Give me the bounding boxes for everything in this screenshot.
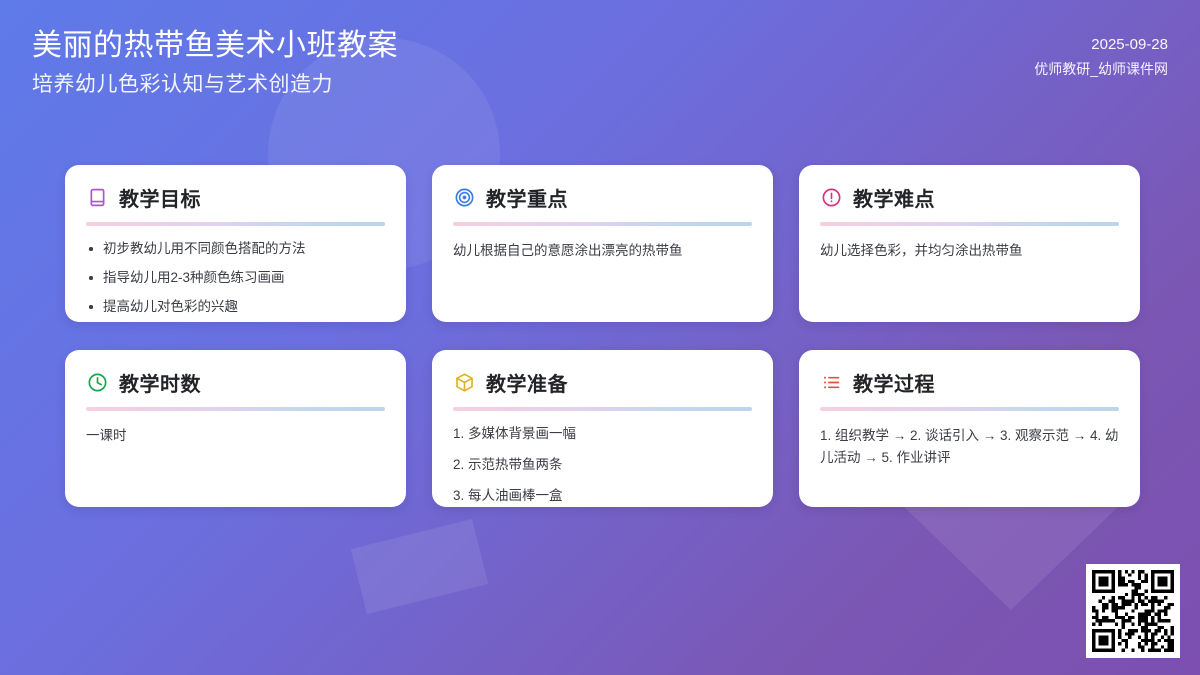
target-icon [453,186,475,208]
slide-canvas: 美丽的热带鱼美术小班教案 培养幼儿色彩认知与艺术创造力 2025-09-28 优… [0,0,1200,675]
list-item: 提高幼儿对色彩的兴趣 [86,298,385,316]
qr-code[interactable] [1086,564,1180,658]
card-divider [86,222,385,226]
card-text: 幼儿选择色彩，并均匀涂出热带鱼 [820,240,1119,262]
card-header: 教学难点 [820,182,1119,212]
list-item: 示范热带鱼两条 [453,456,752,474]
card-title: 教学难点 [853,183,935,212]
decorative-rectangle [351,519,488,614]
card-teaching-difficulties[interactable]: 教学难点幼儿选择色彩，并均匀涂出热带鱼 [799,165,1140,322]
card-title: 教学目标 [119,183,201,212]
card-body: 幼儿根据自己的意愿涂出漂亮的热带鱼 [453,240,752,308]
card-divider [820,222,1119,226]
numbered-list: 多媒体背景画一幅示范热带鱼两条每人油画棒一盒 [453,425,752,506]
card-teaching-objectives[interactable]: 教学目标初步教幼儿用不同颜色搭配的方法指导幼儿用2-3种颜色练习画画提高幼儿对色… [65,165,406,322]
card-body: 1. 组织教学 → 2. 谈话引入 → 3. 观察示范 → 4. 幼儿活动 → … [820,425,1119,493]
card-divider [86,407,385,411]
qr-code-image [1092,570,1174,652]
header-title-group: 美丽的热带鱼美术小班教案 培养幼儿色彩认知与艺术创造力 [32,26,398,99]
card-title: 教学过程 [853,368,935,397]
card-teaching-key-points[interactable]: 教学重点幼儿根据自己的意愿涂出漂亮的热带鱼 [432,165,773,322]
alert-circle-icon [820,186,842,208]
card-body: 初步教幼儿用不同颜色搭配的方法指导幼儿用2-3种颜色练习画画提高幼儿对色彩的兴趣 [86,240,385,308]
card-header: 教学准备 [453,367,752,397]
list-icon [820,371,842,393]
bullet-list: 初步教幼儿用不同颜色搭配的方法指导幼儿用2-3种颜色练习画画提高幼儿对色彩的兴趣 [86,240,385,317]
list-item: 多媒体背景画一幅 [453,425,752,443]
card-title: 教学重点 [486,183,568,212]
card-body: 一课时 [86,425,385,493]
card-divider [820,407,1119,411]
header-source: 优师教研_幼师课件网 [1034,58,1168,82]
list-item: 指导幼儿用2-3种颜色练习画画 [86,269,385,287]
card-header: 教学重点 [453,182,752,212]
card-divider [453,222,752,226]
header-meta-group: 2025-09-28 优师教研_幼师课件网 [1034,26,1168,81]
card-body: 幼儿选择色彩，并均匀涂出热带鱼 [820,240,1119,308]
card-text: 1. 组织教学 → 2. 谈话引入 → 3. 观察示范 → 4. 幼儿活动 → … [820,425,1119,469]
list-item: 初步教幼儿用不同颜色搭配的方法 [86,240,385,258]
card-header: 教学时数 [86,367,385,397]
card-teaching-preparation[interactable]: 教学准备多媒体背景画一幅示范热带鱼两条每人油画棒一盒 [432,350,773,507]
card-text: 一课时 [86,425,385,447]
card-body: 多媒体背景画一幅示范热带鱼两条每人油画棒一盒 [453,425,752,493]
page-subtitle: 培养幼儿色彩认知与艺术创造力 [32,71,398,99]
card-teaching-process[interactable]: 教学过程1. 组织教学 → 2. 谈话引入 → 3. 观察示范 → 4. 幼儿活… [799,350,1140,507]
card-title: 教学准备 [486,368,568,397]
header-date: 2025-09-28 [1091,32,1168,58]
page-title: 美丽的热带鱼美术小班教案 [32,26,398,67]
card-text: 幼儿根据自己的意愿涂出漂亮的热带鱼 [453,240,752,262]
card-title: 教学时数 [119,368,201,397]
clock-icon [86,371,108,393]
content-card-grid: 教学目标初步教幼儿用不同颜色搭配的方法指导幼儿用2-3种颜色练习画画提高幼儿对色… [65,165,1140,507]
slide-header: 美丽的热带鱼美术小班教案 培养幼儿色彩认知与艺术创造力 2025-09-28 优… [0,0,1200,140]
card-header: 教学目标 [86,182,385,212]
card-divider [453,407,752,411]
box-icon [453,371,475,393]
card-header: 教学过程 [820,367,1119,397]
book-icon [86,186,108,208]
card-teaching-hours[interactable]: 教学时数一课时 [65,350,406,507]
list-item: 每人油画棒一盒 [453,487,752,505]
